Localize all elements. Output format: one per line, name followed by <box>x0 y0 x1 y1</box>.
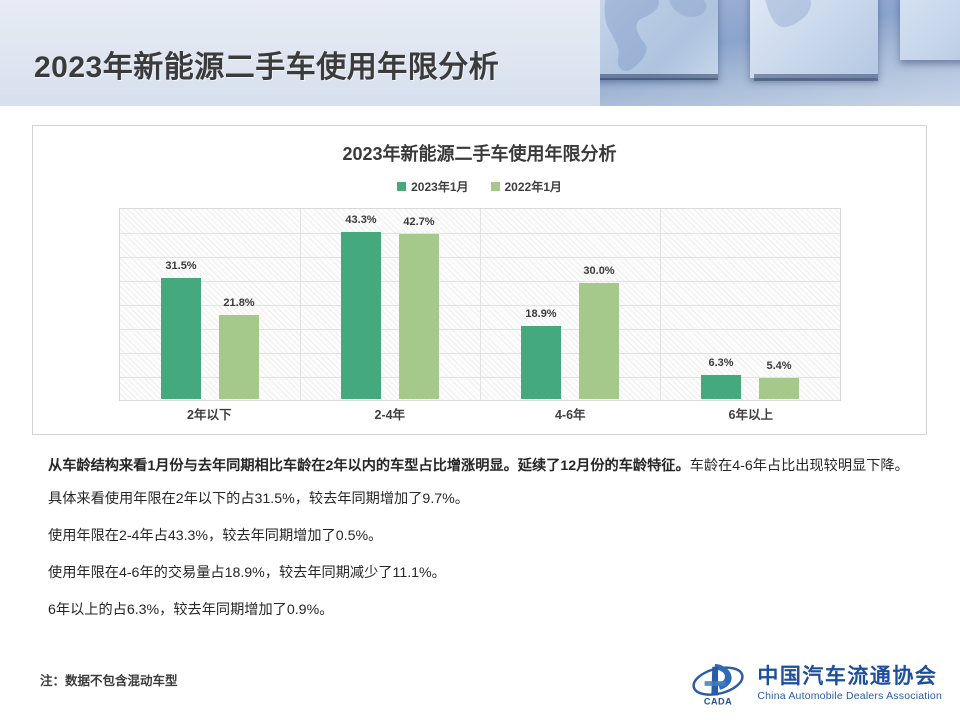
x-axis-label-1: 2-4年 <box>300 404 481 423</box>
chart-legend: 2023年1月 2022年1月 <box>33 178 926 195</box>
logo-text-block: 中国汽车流通协会 China Automobile Dealers Associ… <box>757 666 942 702</box>
chart-card: 2023年新能源二手车使用年限分析 2023年1月 2022年1月 31.5% <box>32 125 927 435</box>
header-banner: 2023年新能源二手车使用年限分析 <box>0 0 960 106</box>
chart-bars-layer: 31.5% 21.8% 43.3% 42.7% <box>120 209 840 400</box>
cube-front-face <box>900 0 960 60</box>
svg-text:CADA: CADA <box>704 697 732 707</box>
legend-item-series-2[interactable]: 2022年1月 <box>491 178 562 195</box>
paragraph-4: 使用年限在4-6年的交易量占18.9%，较去年同期减少了11.1%。 <box>48 562 918 585</box>
chart-x-axis-labels: 2年以下 2-4年 4-6年 6年以上 <box>119 404 841 423</box>
bar-wrap-s1-c2: 18.9% <box>521 326 561 399</box>
world-map-icon <box>600 0 718 78</box>
x-axis-label-3: 6年以上 <box>661 404 842 423</box>
bar-wrap-s2-c1: 42.7% <box>399 234 439 399</box>
analysis-text-block: 从车龄结构来看1月份与去年同期相比车龄在2年以内的车型占比增涨明显。延续了12月… <box>48 455 918 636</box>
bar-wrap-s1-c3: 6.3% <box>701 375 741 399</box>
bar-value-label-s1-c1: 43.3% <box>345 214 376 226</box>
bar-series-1-category-3[interactable] <box>701 375 741 399</box>
artwork-cube-3 <box>900 0 960 60</box>
cube-front-face <box>750 0 878 78</box>
paragraph-1-rest: 车龄在4-6年占比出现较明显下降。 <box>690 458 909 474</box>
legend-swatch-series-1 <box>397 182 406 191</box>
world-map-icon <box>750 0 878 78</box>
artwork-cube-1 <box>600 0 718 78</box>
legend-label-series-1: 2023年1月 <box>411 178 468 195</box>
bar-value-label-s1-c3: 6.3% <box>708 357 733 369</box>
bar-value-label-s2-c2: 30.0% <box>583 265 614 277</box>
cube-shadow-edge <box>754 74 878 81</box>
bar-series-2-category-2[interactable] <box>579 283 619 399</box>
bar-value-label-s1-c0: 31.5% <box>165 260 196 272</box>
bar-value-label-s2-c1: 42.7% <box>403 216 434 228</box>
logo-name-en: China Automobile Dealers Association <box>757 691 942 702</box>
bar-group-category-3: 6.3% 5.4% <box>660 209 840 400</box>
bar-series-2-category-1[interactable] <box>399 234 439 399</box>
bar-group-category-2: 18.9% 30.0% <box>480 209 660 400</box>
paragraph-5: 6年以上的占6.3%，较去年同期增加了0.9%。 <box>48 599 918 622</box>
page-title: 2023年新能源二手车使用年限分析 <box>34 42 499 86</box>
paragraph-2: 具体来看使用年限在2年以下的占31.5%，较去年同期增加了9.7%。 <box>48 488 918 511</box>
legend-swatch-series-2 <box>491 182 500 191</box>
bar-value-label-s1-c2: 18.9% <box>525 308 556 320</box>
paragraph-1-bold: 从车龄结构来看1月份与去年同期相比车龄在2年以内的车型占比增涨明显。延续了12月… <box>48 458 690 474</box>
legend-label-series-2: 2022年1月 <box>505 178 562 195</box>
cube-shadow-edge <box>600 74 718 80</box>
x-axis-label-2: 4-6年 <box>480 404 661 423</box>
bar-series-1-category-1[interactable] <box>341 232 381 399</box>
bar-series-2-category-0[interactable] <box>219 315 259 399</box>
bar-series-1-category-2[interactable] <box>521 326 561 399</box>
chart-plot-area: 31.5% 21.8% 43.3% 42.7% <box>119 208 841 401</box>
header-artwork-cubes <box>600 0 960 106</box>
bar-wrap-s1-c0: 31.5% <box>161 278 201 399</box>
bar-wrap-s2-c3: 5.4% <box>759 378 799 399</box>
bar-series-1-category-0[interactable] <box>161 278 201 399</box>
cube-front-face <box>600 0 718 78</box>
bar-wrap-s2-c2: 30.0% <box>579 283 619 399</box>
bar-series-2-category-3[interactable] <box>759 378 799 399</box>
chart-title: 2023年新能源二手车使用年限分析 <box>33 140 926 166</box>
cada-emblem-icon: CADA <box>690 660 748 708</box>
bar-value-label-s2-c3: 5.4% <box>766 360 791 372</box>
logo-name-cn: 中国汽车流通协会 <box>757 666 942 687</box>
organization-logo: CADA 中国汽车流通协会 China Automobile Dealers A… <box>690 660 942 708</box>
bar-group-category-1: 43.3% 42.7% <box>300 209 480 400</box>
paragraph-1: 从车龄结构来看1月份与去年同期相比车龄在2年以内的车型占比增涨明显。延续了12月… <box>48 455 918 478</box>
bar-wrap-s1-c1: 43.3% <box>341 232 381 399</box>
bar-group-category-0: 31.5% 21.8% <box>120 209 300 400</box>
paragraph-3: 使用年限在2-4年占43.3%，较去年同期增加了0.5%。 <box>48 525 918 548</box>
legend-item-series-1[interactable]: 2023年1月 <box>397 178 468 195</box>
artwork-cube-2 <box>750 0 878 78</box>
x-axis-label-0: 2年以下 <box>119 404 300 423</box>
footnote: 注：数据不包含混动车型 <box>40 670 178 689</box>
bar-value-label-s2-c0: 21.8% <box>223 297 254 309</box>
bar-wrap-s2-c0: 21.8% <box>219 315 259 399</box>
